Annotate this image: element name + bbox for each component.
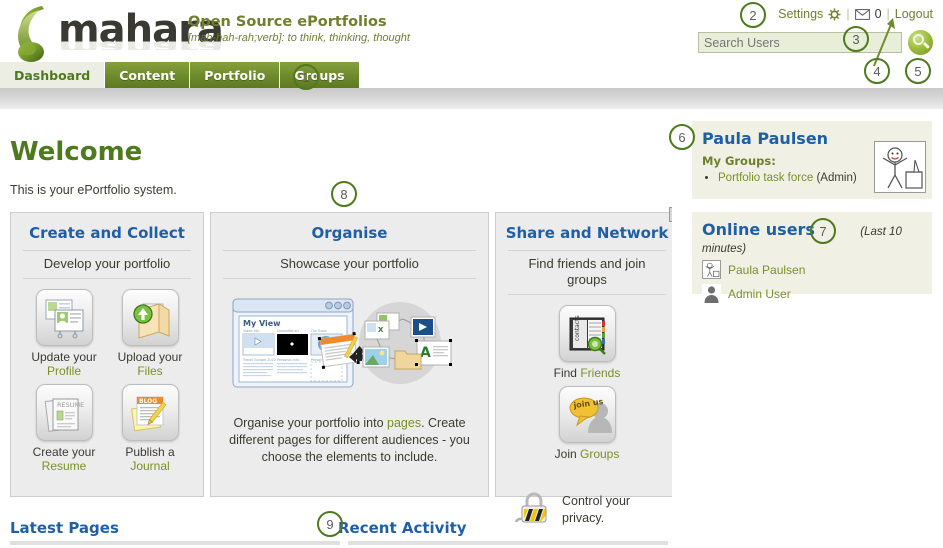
panel-subtitle: Develop your portfolio	[23, 250, 191, 279]
list-item[interactable]: Admin User	[702, 284, 922, 303]
group-role: (Admin)	[816, 172, 856, 184]
search-button[interactable]	[908, 30, 933, 55]
tab-portfolio[interactable]: Portfolio	[190, 62, 280, 88]
list-item[interactable]: Paula Paulsen	[702, 260, 922, 279]
tile-line1: Publish a	[125, 445, 174, 459]
organise-text-before: Organise your portfolio into	[233, 416, 387, 430]
svg-text:Video clip: Video clip	[243, 329, 259, 333]
callout-3: 3	[843, 26, 869, 52]
panel-subtitle: Find friends and join groups	[508, 250, 666, 295]
tile-publish-journal[interactable]: BLOG	[107, 384, 193, 473]
tile-line2: Profile	[47, 364, 81, 378]
settings-link[interactable]: Settings	[778, 7, 823, 21]
callout-8: 8	[331, 181, 357, 207]
panel-title: Create and Collect	[19, 223, 195, 243]
svg-text:RESUME: RESUME	[57, 401, 84, 409]
callout-1: 1	[293, 64, 319, 90]
panel-title: Organise	[219, 223, 480, 243]
privacy-line1: Control your	[562, 494, 630, 508]
tile-caption: Publish a Journal	[107, 445, 193, 473]
padlock-icon	[514, 489, 554, 530]
gear-icon[interactable]	[828, 8, 841, 21]
tile-line2: Friends	[580, 366, 620, 380]
dashboard-panels: Create and Collect Develop your portfoli…	[10, 212, 679, 497]
sidebar-user-name: Paula Paulsen	[702, 129, 828, 148]
tile-line2: Files	[137, 364, 162, 378]
svg-text:BLOG: BLOG	[139, 398, 157, 405]
svg-text:My View: My View	[243, 319, 281, 328]
site-header: mahara mahara Open Source ePortfolios [m…	[0, 0, 943, 88]
privacy-line2: privacy.	[562, 511, 604, 525]
tile-create-resume[interactable]: RESUME Create your Resume	[21, 384, 107, 473]
main-area: Welcome This is your ePortfolio system. …	[0, 109, 943, 548]
tile-line1: Join	[555, 447, 577, 461]
tagline-main: Open Source ePortfolios	[188, 14, 410, 31]
recent-activity-heading: Recent Activity	[338, 519, 467, 537]
group-link[interactable]: Portfolio task force	[718, 172, 813, 184]
mahara-leaf-icon	[10, 2, 56, 64]
tile-line2: Groups	[580, 447, 619, 461]
divider: |	[846, 7, 849, 21]
recent-activity-rule	[348, 541, 668, 545]
tile-caption: Upload your Files	[107, 350, 193, 378]
tile-upload-files[interactable]: Upload your Files	[107, 289, 193, 378]
callout-5: 5	[905, 58, 931, 84]
online-user-name[interactable]: Paula Paulsen	[728, 263, 805, 277]
contacts-book-icon[interactable]: contacts	[559, 305, 616, 362]
upload-folder-icon[interactable]	[122, 289, 179, 346]
tagline-sub: [mah-hah-rah;verb]: to think, thinking, …	[188, 31, 410, 45]
tile-line2: Resume	[42, 459, 87, 473]
svg-text:Uploaded art: Uploaded art	[277, 329, 300, 333]
avatar[interactable]	[874, 141, 926, 193]
nav-underbar	[0, 88, 943, 109]
panel-create-and-collect: Create and Collect Develop your portfoli…	[10, 212, 204, 497]
callout-2: 2	[740, 2, 766, 28]
tile-caption: Join Groups	[544, 447, 630, 461]
privacy-text: Control your privacy.	[562, 493, 630, 527]
organise-description: Organise your portfolio into pages. Crea…	[227, 415, 472, 466]
svg-text:X: X	[378, 326, 384, 334]
online-user-name[interactable]: Admin User	[728, 287, 791, 301]
panel-title: Share and Network	[504, 223, 670, 243]
svg-text:A: A	[420, 345, 431, 361]
svg-text:Our Solar: Our Solar	[311, 329, 328, 333]
tile-caption: Find Friends	[544, 366, 630, 380]
silhouette-avatar-icon	[702, 284, 721, 303]
journal-blog-icon[interactable]: BLOG	[122, 384, 179, 441]
callout-9: 9	[317, 511, 343, 537]
latest-pages-rule	[10, 541, 340, 545]
online-users-title: Online users	[702, 220, 815, 239]
svg-text:Personal Info: Personal Info	[277, 358, 299, 362]
tile-caption: Update your Profile	[21, 350, 107, 378]
callout-6: 6	[669, 124, 695, 150]
tile-line1: Find	[554, 366, 577, 380]
panel-subtitle: Showcase your portfolio	[223, 250, 476, 279]
join-us-speech-icon[interactable]: join us	[559, 386, 616, 443]
panel-share-and-network: Share and Network Find friends and join …	[495, 212, 679, 497]
page-title: Welcome	[10, 137, 662, 167]
tile-update-profile[interactable]: Update your Profile	[21, 289, 107, 378]
tile-grid: contacts	[504, 305, 670, 467]
tile-line1: Upload your	[118, 350, 183, 364]
svg-text:contacts: contacts	[574, 315, 581, 341]
page-layout-drag-icon: My View Video clipUploaded artOur Solar	[225, 291, 475, 401]
tab-content[interactable]: Content	[105, 62, 190, 88]
tile-find-friends[interactable]: contacts	[544, 305, 630, 380]
tile-join-groups[interactable]: join us Join Groups	[544, 386, 630, 461]
callout-7: 7	[810, 218, 836, 244]
tile-line2: Journal	[130, 459, 169, 473]
pages-link[interactable]: pages	[387, 416, 421, 430]
magnifier-handle-icon	[923, 42, 930, 49]
panel-organise: Organise Showcase your portfolio My View	[210, 212, 489, 497]
tile-grid: Update your Profile	[19, 289, 195, 479]
stick-figure-avatar-icon	[702, 260, 721, 279]
tile-caption: Create your Resume	[21, 445, 107, 473]
sidebar-user-block: Paula Paulsen My Groups: Portfolio task …	[692, 121, 932, 199]
tagline: Open Source ePortfolios [mah-hah-rah;ver…	[188, 14, 410, 45]
content-column: Welcome This is your ePortfolio system. …	[0, 109, 672, 548]
sidebar: Paula Paulsen My Groups: Portfolio task …	[672, 109, 943, 548]
tile-line1: Create your	[33, 445, 96, 459]
top-links: Settings | 0 | Logout	[778, 7, 933, 21]
svg-text:Travel Europe 2010: Travel Europe 2010	[242, 358, 276, 362]
tile-line1: Update your	[31, 350, 96, 364]
callout-4: 4	[864, 58, 890, 84]
tab-dashboard[interactable]: Dashboard	[0, 62, 105, 88]
privacy-row[interactable]: Control your privacy.	[514, 489, 670, 530]
latest-pages-heading: Latest Pages	[10, 519, 119, 537]
resume-papers-icon[interactable]: RESUME	[36, 384, 93, 441]
profile-cards-icon[interactable]	[36, 289, 93, 346]
